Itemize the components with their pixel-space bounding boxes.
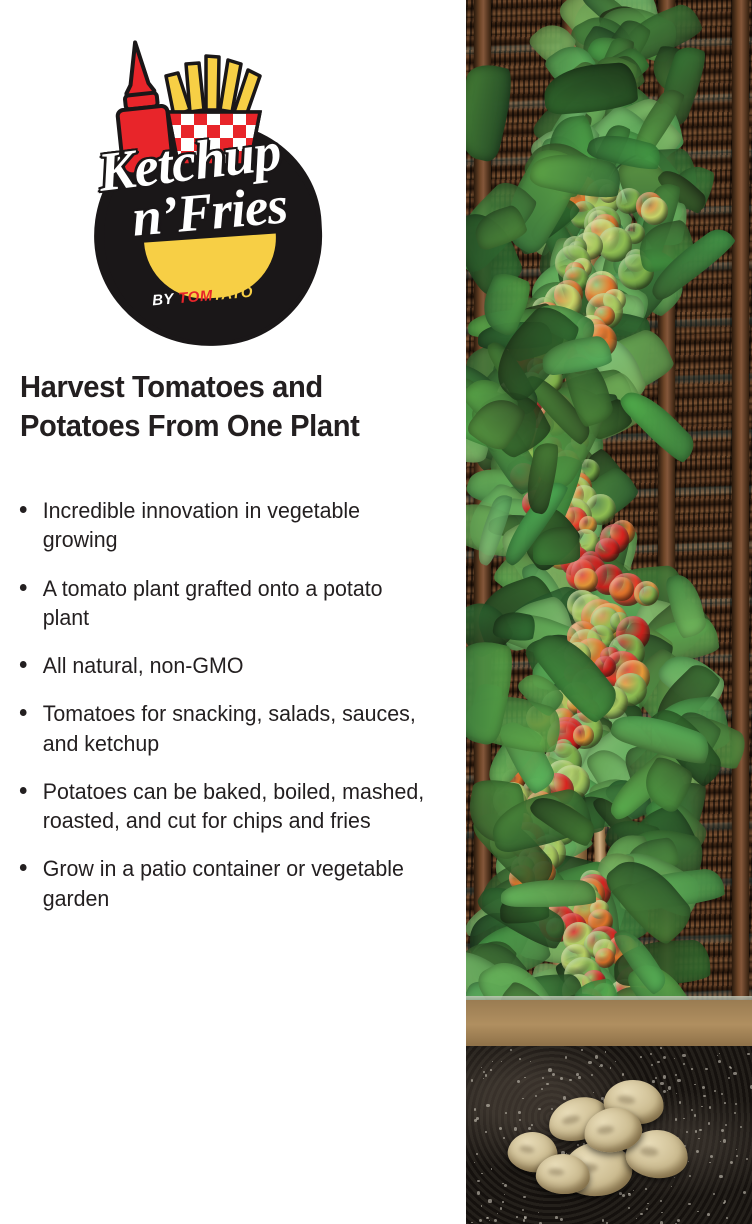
soil-speck — [733, 1072, 736, 1075]
soil-speck — [718, 1060, 721, 1063]
soil-speck — [660, 1047, 662, 1049]
soil-speck — [600, 1064, 603, 1067]
soil-speck — [471, 1079, 474, 1082]
soil-speck — [548, 1068, 552, 1072]
list-item-label: Grow in a patio container or vegetable g… — [43, 856, 404, 910]
soil-speck — [677, 1079, 680, 1082]
soil-speck — [674, 1058, 675, 1059]
soil-speck — [721, 1093, 723, 1095]
soil-speck — [645, 1188, 647, 1190]
soil-speck — [481, 1067, 482, 1068]
soil-speck — [538, 1108, 541, 1111]
soil-speck — [569, 1079, 571, 1081]
soil-speck — [702, 1086, 705, 1089]
soil-speck — [707, 1213, 710, 1216]
product-info-panel: Ketchup n’Fries BY TOMTATO Harvest Tomat… — [0, 0, 752, 1224]
soil-speck — [578, 1076, 581, 1079]
soil-speck — [535, 1095, 537, 1097]
soil-speck — [555, 1216, 558, 1219]
list-item-label: Tomatoes for snacking, salads, sauces, a… — [43, 701, 416, 755]
list-item: Tomatoes for snacking, salads, sauces, a… — [18, 699, 427, 758]
soil-speck — [730, 1161, 733, 1164]
cherry-tomato — [639, 586, 658, 605]
cherry-tomato — [574, 568, 598, 592]
soil-speck — [667, 1090, 668, 1091]
soil-speck — [605, 1051, 607, 1053]
soil-speck — [697, 1211, 699, 1213]
soil-speck — [698, 1138, 700, 1140]
soil-speck — [483, 1071, 485, 1073]
soil-speck — [717, 1055, 718, 1056]
list-item: All natural, non-GMO — [18, 651, 427, 680]
soil-speck — [705, 1068, 707, 1070]
soil-speck — [668, 1086, 672, 1090]
soil-speck — [610, 1067, 612, 1069]
soil-speck — [505, 1112, 507, 1114]
soil-speck — [677, 1219, 680, 1222]
soil-speck — [595, 1055, 599, 1059]
soil-speck — [588, 1061, 591, 1064]
feature-list: Incredible innovation in vegetable growi… — [18, 496, 448, 932]
soil-speck — [522, 1098, 523, 1099]
soil-speck — [486, 1217, 488, 1219]
soil-speck — [500, 1207, 503, 1210]
soil-speck — [622, 1194, 625, 1197]
bullet-dot-icon — [20, 506, 27, 513]
soil-speck — [516, 1216, 518, 1218]
page-title: Harvest Tomatoes and Potatoes From One P… — [20, 368, 415, 446]
soil-speck — [615, 1061, 616, 1062]
cherry-tomato — [641, 197, 669, 225]
soil-speck — [497, 1213, 498, 1214]
soil-speck — [474, 1162, 475, 1163]
bullet-dot-icon — [20, 661, 27, 668]
list-item: Grow in a patio container or vegetable g… — [18, 854, 427, 913]
soil-speck — [542, 1077, 544, 1079]
soil-speck — [660, 1200, 662, 1202]
soil-speck — [736, 1149, 737, 1150]
soil-speck — [474, 1119, 477, 1122]
soil-speck — [519, 1058, 521, 1060]
soil-speck — [688, 1161, 689, 1162]
soil-speck — [646, 1208, 648, 1210]
soil-speck — [528, 1127, 531, 1130]
soil-speck — [710, 1155, 713, 1158]
soil-speck — [657, 1061, 659, 1063]
soil-speck — [560, 1218, 563, 1221]
list-item: Incredible innovation in vegetable growi… — [18, 496, 427, 555]
soil-speck — [593, 1092, 594, 1093]
logo-byline-tom: TOM — [178, 287, 214, 307]
soil-speck — [724, 1200, 727, 1203]
soil-speck — [694, 1084, 695, 1085]
soil-speck — [699, 1129, 701, 1131]
soil-speck — [695, 1130, 698, 1133]
list-item: Potatoes can be baked, boiled, mashed, r… — [18, 777, 427, 836]
soil-speck — [708, 1122, 710, 1124]
soil-speck — [726, 1217, 728, 1219]
soil-speck — [503, 1137, 505, 1139]
soil-speck — [491, 1168, 492, 1169]
soil-speck — [719, 1053, 720, 1054]
soil-speck — [538, 1212, 539, 1213]
soil-speck — [501, 1061, 502, 1062]
soil-speck — [488, 1199, 491, 1202]
soil-speck — [485, 1074, 487, 1076]
soil-speck — [479, 1219, 482, 1222]
text-panel: Ketchup n’Fries BY TOMTATO Harvest Tomat… — [0, 0, 466, 1224]
headline-line-2: Potatoes From One Plant — [20, 407, 415, 446]
soil-speck — [518, 1111, 521, 1114]
soil-speck — [730, 1067, 732, 1069]
soil-speck — [655, 1077, 658, 1080]
soil-speck — [531, 1124, 533, 1126]
product-photo — [466, 0, 752, 1224]
soil-speck — [523, 1196, 526, 1199]
soil-speck — [565, 1056, 568, 1059]
soil-speck — [694, 1114, 696, 1116]
soil-speck — [576, 1073, 579, 1076]
soil-speck — [683, 1063, 685, 1065]
soil-speck — [551, 1108, 553, 1110]
soil-speck — [560, 1077, 563, 1080]
soil-speck — [734, 1112, 736, 1114]
soil-speck — [723, 1139, 726, 1142]
list-item-label: All natural, non-GMO — [43, 653, 244, 678]
soil-speck — [686, 1131, 688, 1133]
soil-speck — [701, 1106, 702, 1107]
soil-speck — [524, 1077, 526, 1079]
soil-speck — [720, 1141, 721, 1142]
soil-speck — [546, 1083, 549, 1086]
soil-speck — [689, 1175, 691, 1177]
french-fries-icon — [160, 46, 268, 164]
soil-speck — [679, 1101, 682, 1104]
soil-speck — [671, 1186, 672, 1187]
soil-speck — [581, 1049, 583, 1051]
soil-speck — [724, 1102, 726, 1104]
soil-speck — [523, 1219, 526, 1222]
soil-speck — [522, 1209, 524, 1211]
soil-speck — [504, 1184, 507, 1187]
soil-speck — [682, 1054, 686, 1058]
list-item: A tomato plant grafted onto a potato pla… — [18, 574, 427, 633]
soil-speck — [517, 1080, 520, 1083]
bullet-dot-icon — [20, 584, 27, 591]
soil-speck — [502, 1201, 503, 1202]
soil-speck — [541, 1088, 543, 1090]
soil-speck — [647, 1203, 649, 1205]
soil-speck — [652, 1080, 655, 1083]
cherry-tomato — [609, 577, 634, 602]
soil-speck — [709, 1106, 712, 1109]
soil-speck — [747, 1053, 749, 1055]
soil-speck — [485, 1131, 486, 1132]
soil-speck — [494, 1219, 497, 1222]
soil-speck — [691, 1068, 692, 1069]
soil-speck — [636, 1218, 638, 1220]
cherry-tomato — [573, 725, 593, 745]
bullet-dot-icon — [20, 709, 27, 716]
soil-speck — [628, 1193, 629, 1194]
soil-speck — [486, 1104, 489, 1107]
soil-speck — [640, 1213, 642, 1215]
soil-speck — [477, 1191, 480, 1194]
soil-speck — [602, 1219, 605, 1222]
soil-speck — [676, 1093, 677, 1094]
headline-line-1: Harvest Tomatoes and — [20, 368, 415, 407]
soil-speck — [489, 1220, 490, 1221]
soil-speck — [492, 1061, 493, 1062]
soil-speck — [483, 1078, 484, 1079]
soil-speck — [660, 1082, 663, 1085]
soil-speck — [477, 1180, 480, 1183]
bullet-dot-icon — [20, 864, 27, 871]
soil-speck — [504, 1194, 505, 1195]
soil-speck — [736, 1155, 738, 1157]
soil-speck — [552, 1073, 555, 1076]
soil-speck — [481, 1205, 483, 1207]
soil-speck — [663, 1075, 666, 1078]
soil-speck — [746, 1158, 748, 1160]
soil-speck — [728, 1077, 730, 1079]
soil-speck — [591, 1074, 593, 1076]
soil-speck — [474, 1108, 476, 1110]
soil-speck — [514, 1127, 517, 1130]
soil-speck — [721, 1129, 724, 1132]
soil-speck — [725, 1124, 727, 1126]
logo-byline-by: BY — [151, 291, 174, 310]
soil-speck — [735, 1103, 737, 1105]
soil-speck — [688, 1203, 691, 1206]
soil-speck — [675, 1118, 678, 1121]
soil-speck — [530, 1061, 532, 1063]
ketchup-n-fries-logo: Ketchup n’Fries BY TOMTATO — [88, 38, 324, 328]
bullet-dot-icon — [20, 787, 27, 794]
soil-speck — [696, 1150, 699, 1153]
list-item-label: Incredible innovation in vegetable growi… — [43, 498, 360, 552]
soil-speck — [714, 1090, 716, 1092]
soil-speck — [628, 1207, 630, 1209]
soil-speck — [663, 1090, 667, 1094]
soil-speck — [510, 1049, 512, 1051]
soil-speck — [691, 1109, 693, 1111]
soil-speck — [622, 1073, 624, 1075]
soil-speck — [663, 1056, 666, 1059]
soil-speck — [713, 1193, 715, 1195]
soil-speck — [743, 1191, 746, 1194]
soil-speck — [577, 1144, 579, 1146]
soil-speck — [703, 1095, 706, 1098]
soil-speck — [633, 1190, 634, 1191]
soil-speck — [709, 1162, 710, 1163]
list-item-label: A tomato plant grafted onto a potato pla… — [43, 576, 383, 630]
soil-speck — [661, 1212, 663, 1214]
list-item-label: Potatoes can be baked, boiled, mashed, r… — [43, 779, 424, 833]
soil-speck — [675, 1074, 677, 1076]
logo-byline-tato: TATO — [212, 284, 254, 304]
soil-speck — [476, 1153, 478, 1155]
soil-speck — [481, 1173, 483, 1175]
soil-speck — [683, 1118, 684, 1119]
soil-speck — [674, 1177, 675, 1178]
soil-speck — [490, 1069, 492, 1071]
soil-speck — [740, 1126, 742, 1128]
soil-speck — [719, 1175, 722, 1178]
soil-speck — [499, 1127, 502, 1130]
soil-speck — [519, 1119, 521, 1121]
soil-speck — [471, 1222, 472, 1223]
soil-speck — [640, 1056, 642, 1058]
soil-speck — [650, 1053, 652, 1055]
soil-speck — [651, 1064, 653, 1066]
soil-speck — [563, 1096, 566, 1099]
soil — [466, 1046, 752, 1224]
